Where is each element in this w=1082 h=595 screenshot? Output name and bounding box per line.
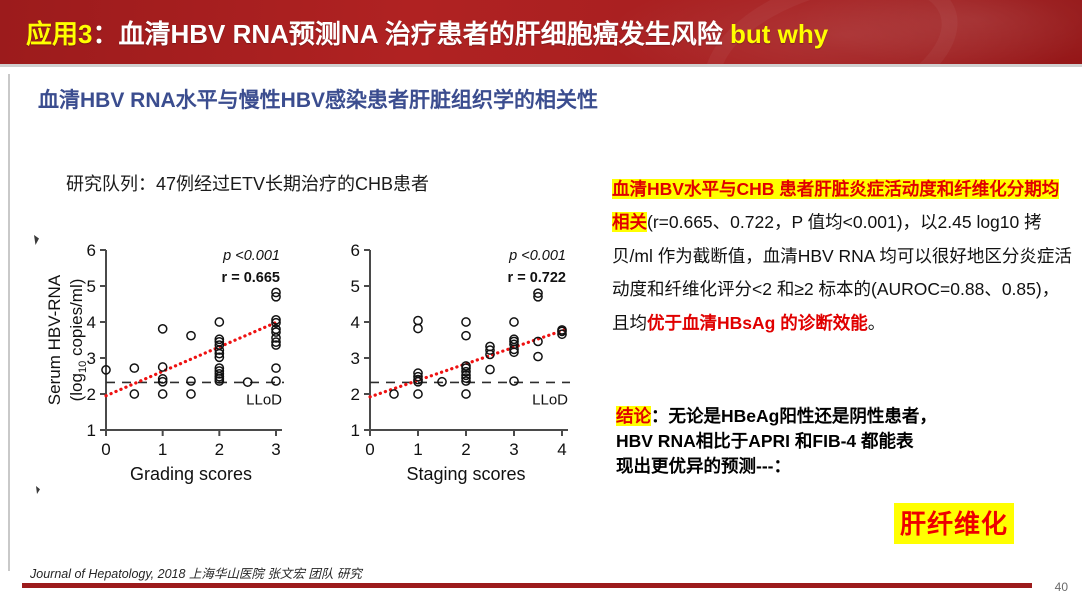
conclusion-line-3: 现出更优异的预测---： [616, 456, 791, 476]
svg-text:4: 4 [557, 440, 566, 459]
svg-text:0: 0 [365, 440, 374, 459]
conclusion-block: 结论：无论是HBeAg阳性还是阴性患者， HBV RNA相比于APRI 和FIB… [616, 404, 1076, 479]
analysis-red-phrase: 优于血清HBsAg 的诊断效能 [647, 313, 868, 333]
analysis-text-panel: 血清HBV水平与CHB 患者肝脏炎症活动度和纤维化分期均相关(r=0.665、0… [612, 155, 1074, 358]
footer-accent-bar [22, 583, 1032, 588]
svg-text:3: 3 [351, 349, 360, 368]
conclusion-label: 结论 [616, 406, 651, 426]
svg-text:1: 1 [87, 421, 96, 440]
analysis-paragraph: 血清HBV水平与CHB 患者肝脏炎症活动度和纤维化分期均相关(r=0.665、0… [612, 173, 1074, 341]
svg-text:1: 1 [158, 440, 167, 459]
svg-text:r = 0.722: r = 0.722 [508, 270, 566, 286]
svg-text:Grading scores: Grading scores [130, 464, 252, 484]
svg-text:4: 4 [87, 313, 96, 332]
svg-text:2: 2 [461, 440, 470, 459]
analysis-plain-text-2: 。 [868, 313, 886, 333]
page-title-suffix: but why [730, 19, 828, 49]
svg-text:Serum HBV-RNA: Serum HBV-RNA [45, 274, 64, 405]
scatter-chart-grading: 1234560123LLoDp <0.001r = 0.665Grading s… [28, 222, 320, 500]
svg-text:2: 2 [87, 385, 96, 404]
conclusion-line-2: HBV RNA相比于APRI 和FIB-4 都能表 [616, 431, 914, 451]
svg-text:1: 1 [413, 440, 422, 459]
svg-text:2: 2 [351, 385, 360, 404]
svg-text:4: 4 [351, 313, 360, 332]
svg-text:(log10 copies/ml): (log10 copies/ml) [67, 279, 89, 402]
study-cohort-text: 研究队列：47例经过ETV长期治疗的CHB患者 [66, 170, 429, 196]
left-vertical-rule [8, 74, 10, 571]
staging-plot-svg: 12345601234LLoDp <0.001r = 0.722Staging … [318, 222, 610, 500]
final-term-badge: 肝纤维化 [894, 503, 1014, 544]
svg-text:2: 2 [215, 440, 224, 459]
svg-text:Staging scores: Staging scores [406, 464, 525, 484]
svg-text:0: 0 [101, 440, 110, 459]
page-number: 40 [1055, 580, 1068, 594]
svg-text:3: 3 [509, 440, 518, 459]
svg-text:6: 6 [87, 241, 96, 260]
svg-text:p <0.001: p <0.001 [222, 248, 280, 264]
svg-text:6: 6 [351, 241, 360, 260]
svg-text:r = 0.665: r = 0.665 [222, 270, 280, 286]
figure-panel: 1234560123LLoDp <0.001r = 0.665Grading s… [28, 222, 620, 500]
svg-text:3: 3 [271, 440, 280, 459]
svg-text:5: 5 [87, 277, 96, 296]
slide-canvas: 应用3：血清HBV RNA预测NA 治疗患者的肝细胞癌发生风险 but why … [0, 0, 1082, 595]
page-title: 应用3：血清HBV RNA预测NA 治疗患者的肝细胞癌发生风险 but why [26, 14, 828, 51]
page-title-prefix: 应用3 [26, 19, 92, 49]
svg-text:5: 5 [351, 277, 360, 296]
slide-header-bar: 应用3：血清HBV RNA预测NA 治疗患者的肝细胞癌发生风险 but why [0, 0, 1082, 64]
svg-text:LLoD: LLoD [246, 391, 282, 408]
header-divider [0, 64, 1082, 67]
svg-text:LLoD: LLoD [532, 391, 568, 408]
svg-text:p <0.001: p <0.001 [508, 248, 566, 264]
footer-citation: Journal of Hepatology, 2018 上海华山医院 张文宏 团… [30, 563, 362, 582]
section-subtitle: 血清HBV RNA水平与慢性HBV感染患者肝脏组织学的相关性 [38, 84, 598, 114]
grading-plot-svg: 1234560123LLoDp <0.001r = 0.665Grading s… [28, 222, 320, 500]
highlight-phrase-1: 血清HBV水平与CHB 患者肝脏炎症活动度和 [612, 179, 954, 199]
svg-text:1: 1 [351, 421, 360, 440]
page-title-middle: ：血清HBV RNA预测NA 治疗患者的肝细胞癌发生风险 [92, 19, 729, 49]
conclusion-line-1: ：无论是HBeAg阳性还是阴性患者， [651, 406, 937, 426]
scatter-chart-staging: 12345601234LLoDp <0.001r = 0.722Staging … [318, 222, 610, 500]
